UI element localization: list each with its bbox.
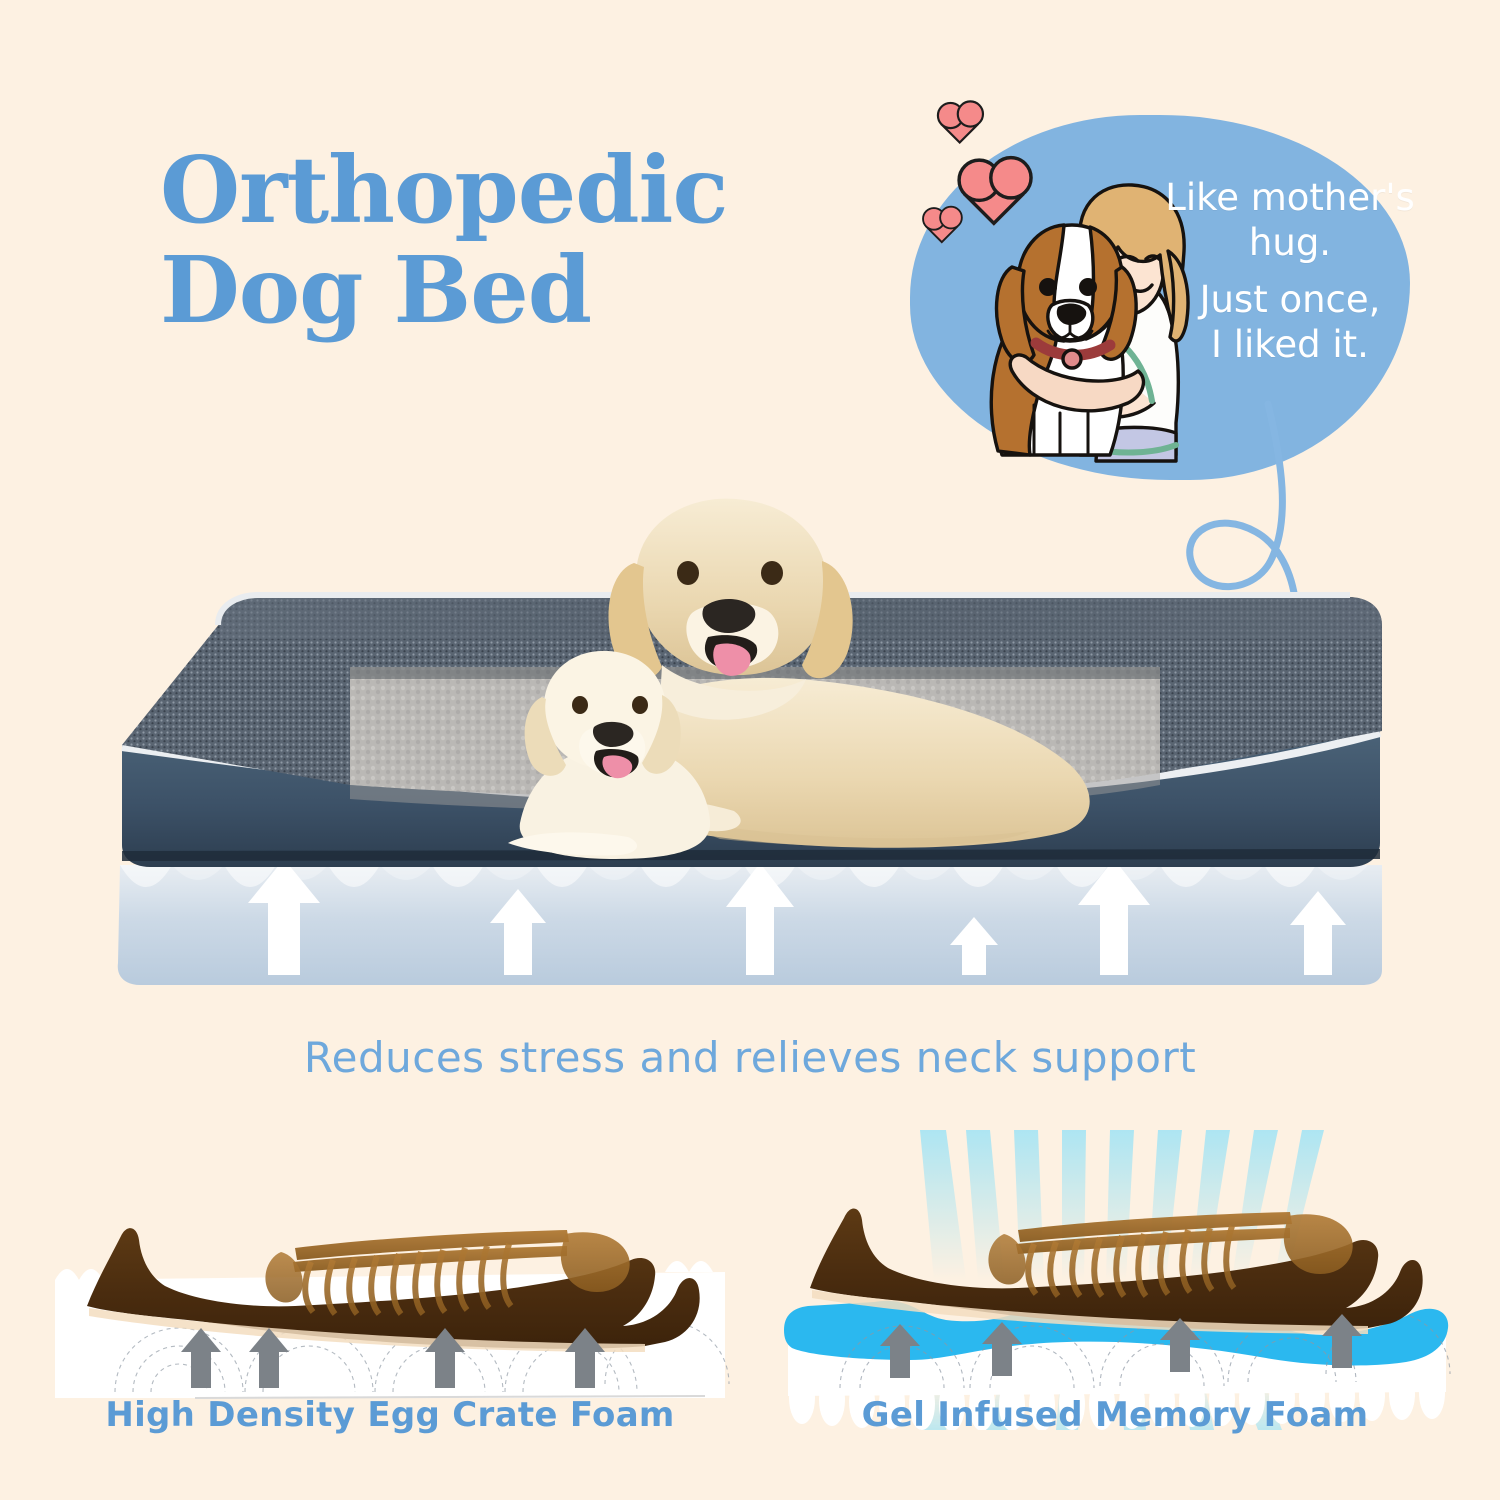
cooling-rays — [920, 1130, 1324, 1280]
bubble-line-3: Just once, — [1140, 277, 1440, 322]
speech-bubble-text: Like mother's hug. Just once, I liked it… — [1140, 175, 1440, 368]
panel-egg-crate-foam — [45, 1130, 735, 1430]
bubble-line-4: I liked it. — [1140, 322, 1440, 367]
panel-caption-egg-crate: High Density Egg Crate Foam — [45, 1395, 735, 1435]
tagline-text: Reduces stress and relieves neck support — [0, 1033, 1500, 1082]
bubble-line-1: Like mother's — [1140, 175, 1440, 220]
panel-caption-gel-memory: Gel Infused Memory Foam — [770, 1395, 1460, 1435]
bubble-line-2: hug. — [1140, 220, 1440, 265]
page-title: Orthopedic Dog Bed — [160, 145, 860, 335]
title-line-1: Orthopedic — [160, 145, 860, 235]
infographic-canvas: Orthopedic Dog Bed — [0, 0, 1500, 1500]
foam-base-layer — [118, 859, 1382, 985]
product-photo-dog-bed — [100, 455, 1400, 995]
panel-gel-memory-foam — [770, 1130, 1460, 1430]
title-line-2: Dog Bed — [160, 245, 860, 335]
